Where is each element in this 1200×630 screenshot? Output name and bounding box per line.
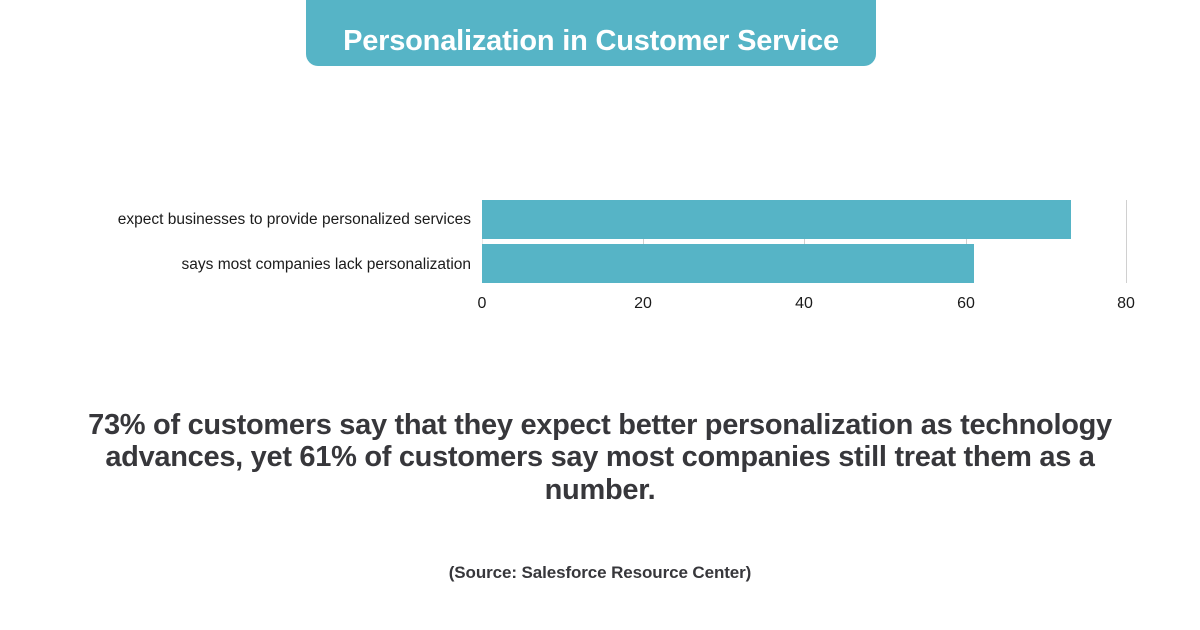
- title-banner: Personalization in Customer Service: [306, 0, 876, 66]
- x-tick-0: 0: [478, 296, 487, 312]
- x-tick-40: 40: [795, 296, 813, 312]
- bar-row: [482, 244, 974, 283]
- bar-chart: expect businesses to provide personalize…: [0, 190, 1200, 315]
- bar-expect-personalized-services[interactable]: [482, 200, 1071, 239]
- bar-lack-personalization[interactable]: [482, 244, 974, 283]
- source-attribution: (Source: Salesforce Resource Center): [0, 563, 1200, 583]
- bar-row: [482, 200, 1071, 239]
- y-axis-label-1: says most companies lack personalization: [51, 257, 471, 273]
- x-tick-60: 60: [957, 296, 975, 312]
- page-title: Personalization in Customer Service: [343, 27, 839, 56]
- x-tick-20: 20: [634, 296, 652, 312]
- y-axis-label-0: expect businesses to provide personalize…: [51, 212, 471, 228]
- chart-y-axis-labels: expect businesses to provide personalize…: [51, 200, 471, 283]
- caption-text: 73% of customers say that they expect be…: [80, 409, 1120, 506]
- chart-plot-area: 0 20 40 60 80: [482, 200, 1127, 283]
- gridline-80: [1126, 200, 1127, 283]
- x-tick-80: 80: [1117, 296, 1135, 312]
